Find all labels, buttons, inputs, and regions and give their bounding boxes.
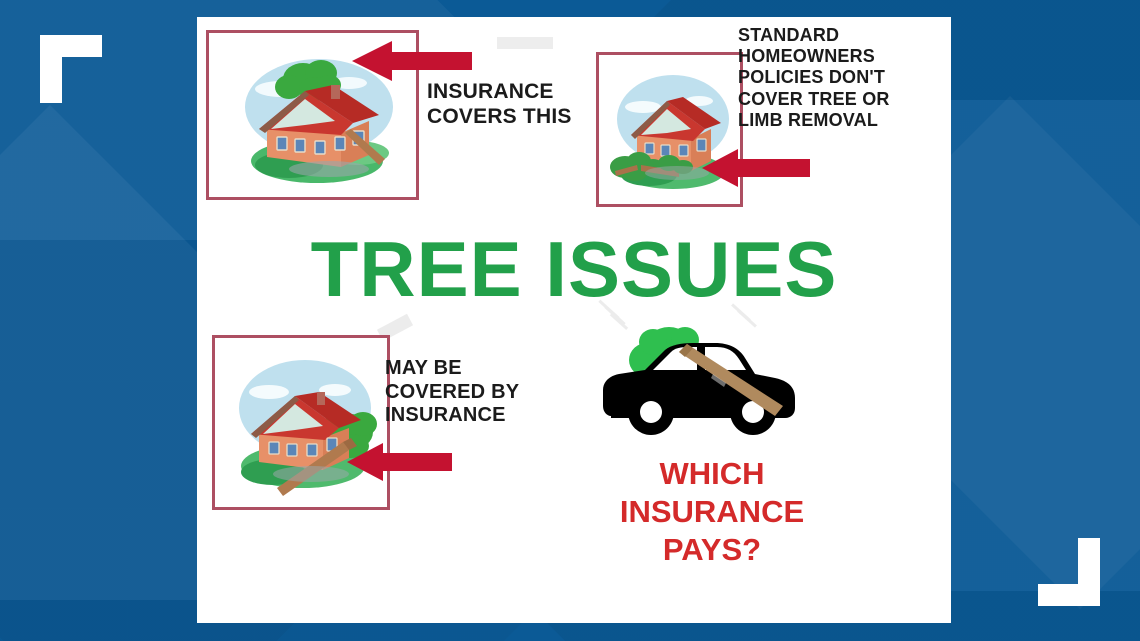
red-left-arrow-icon-1 — [352, 39, 472, 83]
watermark-fragment-top — [497, 27, 557, 53]
caption-no-tree-removal: STANDARD HOMEOWNERS POLICIES DON'T COVER… — [738, 25, 890, 131]
bracket-arm-vertical — [40, 35, 62, 103]
red-left-arrow-icon-3 — [347, 441, 452, 483]
bracket-arm-vertical — [1078, 538, 1100, 606]
caption-which-insurance-pays: WHICH INSURANCE PAYS? — [567, 455, 857, 568]
panel-frame-may-be-covered — [212, 335, 390, 510]
corner-bracket-bottom-right-icon — [1038, 538, 1100, 606]
caption-insurance-covers-this: INSURANCE COVERS THIS — [427, 80, 572, 130]
corner-bracket-top-left-icon — [40, 35, 102, 103]
red-left-arrow-icon-2 — [702, 147, 810, 189]
page-title: TREE ISSUES — [197, 224, 951, 315]
content-card: INSURANCE COVERS THIS — [197, 17, 951, 623]
caption-may-be-covered: MAY BE COVERED BY INSURANCE — [385, 357, 519, 428]
black-car-with-tree-limb-on-roof-illustration — [593, 312, 823, 452]
